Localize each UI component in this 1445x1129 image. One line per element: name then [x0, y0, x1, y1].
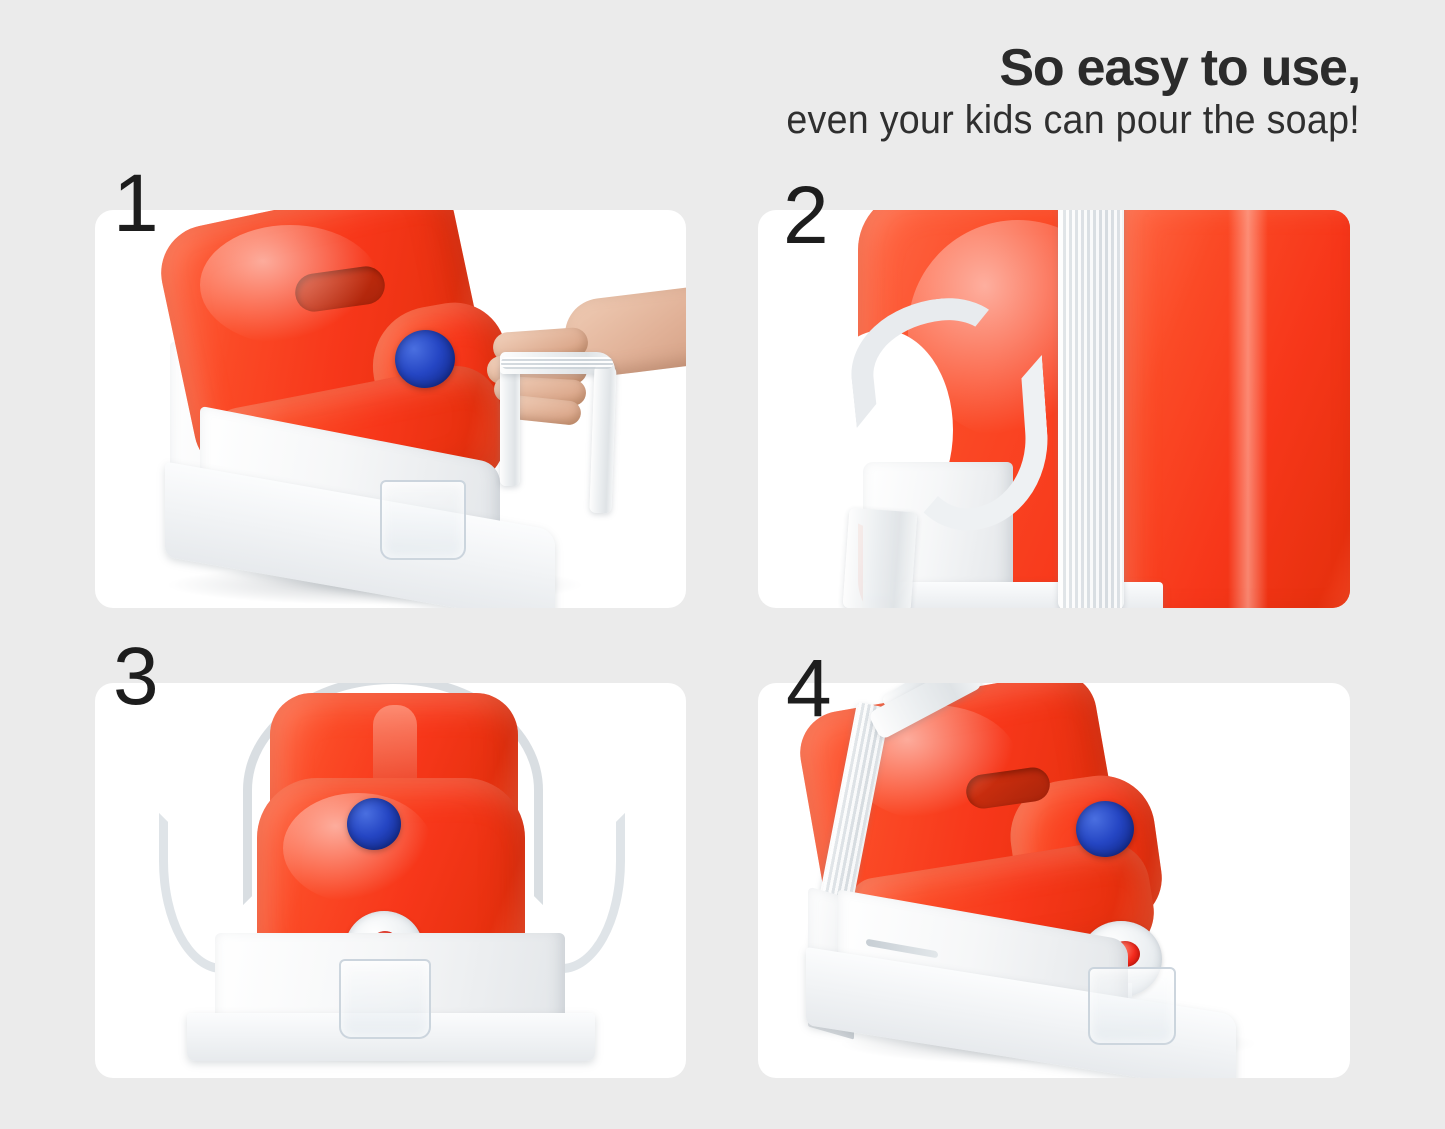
step-two-illustration [758, 210, 1350, 608]
measuring-cup [1088, 967, 1176, 1045]
step-panel-1 [95, 210, 686, 608]
header: So easy to use, even your kids can pour … [460, 42, 1360, 143]
blue-cap [347, 798, 401, 850]
strap-tail [843, 508, 918, 608]
step-three-illustration [95, 683, 686, 1078]
strap-right-leg [589, 365, 616, 514]
strap-ribbing [501, 357, 613, 369]
step-panel-4 [758, 683, 1350, 1078]
step-panel-3 [95, 683, 686, 1078]
step-one-illustration [95, 210, 686, 608]
step-panel-2 [758, 210, 1350, 608]
strap-left-leg [500, 368, 520, 486]
page-title: So easy to use, [460, 42, 1360, 95]
step-four-illustration [758, 683, 1350, 1078]
page-subtitle: even your kids can pour the soap! [514, 97, 1360, 143]
poster-root: So easy to use, even your kids can pour … [0, 0, 1445, 1129]
strap-vertical-weave [1060, 210, 1122, 608]
measuring-cup [339, 959, 431, 1039]
bottle-seam-highlight [1228, 210, 1268, 608]
measuring-cup [380, 480, 466, 560]
